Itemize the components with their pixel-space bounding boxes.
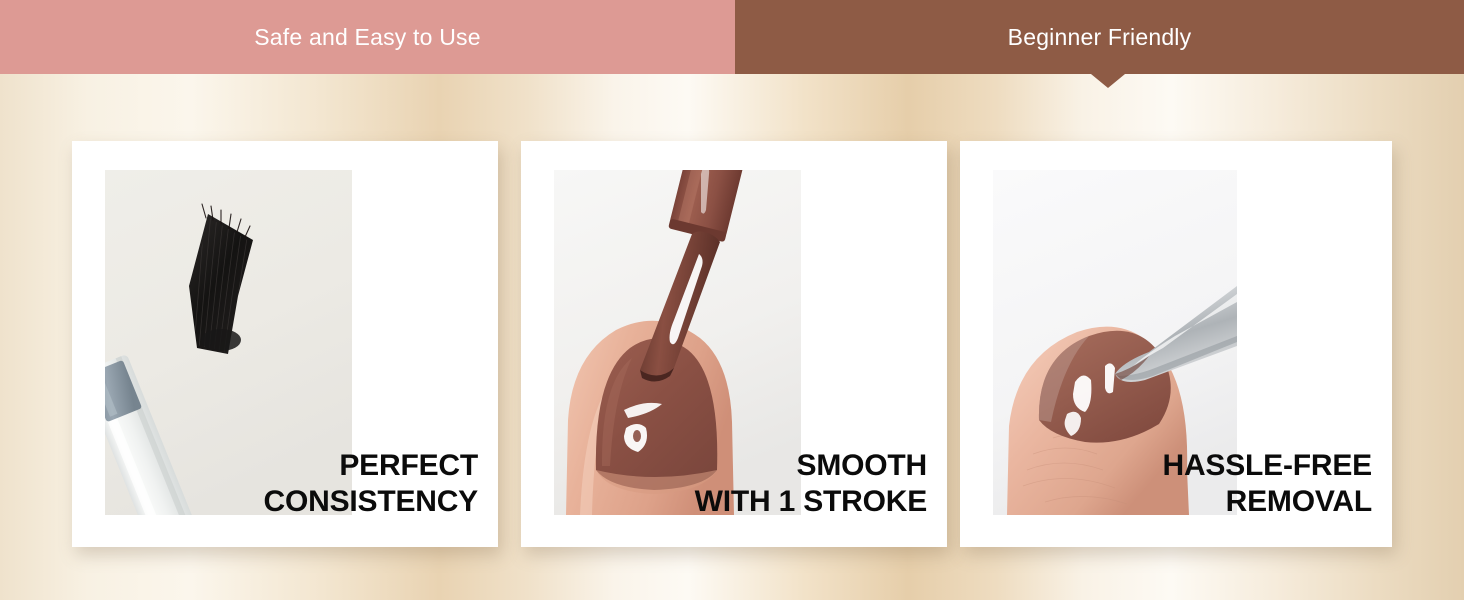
feature-card-perfect-consistency[interactable]: PERFECT CONSISTENCY — [72, 141, 498, 547]
tab-bar: Safe and Easy to Use Beginner Friendly — [0, 0, 1464, 74]
tab-safe-and-easy-to-use[interactable]: Safe and Easy to Use — [0, 0, 735, 74]
card-caption: SMOOTH WITH 1 STROKE — [695, 448, 927, 521]
tab-label: Beginner Friendly — [1008, 24, 1192, 51]
caption-line-2: WITH 1 STROKE — [695, 484, 927, 521]
card-caption: HASSLE-FREE REMOVAL — [1163, 448, 1373, 521]
caption-line-2: REMOVAL — [1163, 484, 1373, 521]
caption-line-1: HASSLE-FREE — [1163, 448, 1373, 485]
active-tab-pointer-icon — [1091, 74, 1125, 88]
feature-card-smooth-with-1-stroke[interactable]: SMOOTH WITH 1 STROKE — [521, 141, 947, 547]
tab-label: Safe and Easy to Use — [254, 24, 480, 51]
caption-line-1: SMOOTH — [695, 448, 927, 485]
caption-line-1: PERFECT — [264, 448, 479, 485]
card-caption: PERFECT CONSISTENCY — [264, 448, 479, 521]
feature-card-hassle-free-removal[interactable]: HASSLE-FREE REMOVAL — [960, 141, 1392, 547]
feature-panel: Safe and Easy to Use Beginner Friendly — [0, 0, 1464, 600]
tab-beginner-friendly[interactable]: Beginner Friendly — [735, 0, 1464, 74]
caption-line-2: CONSISTENCY — [264, 484, 479, 521]
